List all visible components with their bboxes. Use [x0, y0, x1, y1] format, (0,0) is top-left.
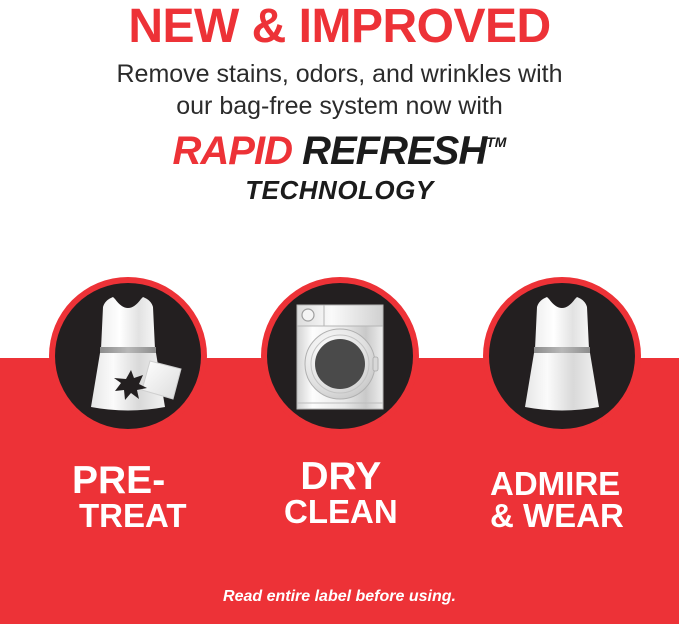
brand-tagline: TECHNOLOGY — [0, 177, 679, 203]
step-label-line-2: CLEAN — [284, 496, 398, 528]
brand-word-refresh: REFRESH — [302, 129, 486, 173]
step-label-line-1: PRE- — [72, 462, 187, 500]
step-label-line-1: ADMIRE — [490, 468, 624, 500]
step-icon-circle-dry-clean — [261, 277, 419, 435]
step-label-line-1: DRY — [284, 458, 398, 496]
brand-name: RAPID REFRESHTM — [0, 131, 679, 171]
stained-dress-with-wipe-icon — [55, 283, 201, 429]
subheading-line-1: Remove stains, odors, and wrinkles with — [116, 60, 562, 88]
brand-word-rapid: RAPID — [173, 129, 292, 173]
clean-dress-icon — [489, 283, 635, 429]
subheading-line-2: our bag-free system now with — [0, 90, 679, 122]
trademark-symbol: TM — [486, 134, 506, 150]
headline: NEW & IMPROVED — [0, 2, 679, 52]
step-icon-circle-admire-wear — [483, 277, 641, 435]
brand-lockup: RAPID REFRESHTM TECHNOLOGY — [0, 131, 679, 203]
footer-note: Read entire label before using. — [0, 588, 679, 606]
step-label-line-2: TREAT — [79, 500, 187, 532]
step-label-dry-clean: DRY CLEAN — [284, 458, 398, 529]
step-icon-circle-pre-treat — [49, 277, 207, 435]
step-label-pre-treat: PRE- TREAT — [72, 462, 187, 533]
product-feature-graphic: NEW & IMPROVED Remove stains, odors, and… — [0, 0, 679, 624]
step-label-line-2: & WEAR — [490, 500, 624, 532]
washing-machine-icon — [267, 283, 413, 429]
step-label-admire-wear: ADMIRE & WEAR — [490, 468, 624, 533]
subheading: Remove stains, odors, and wrinkles with … — [0, 58, 679, 122]
